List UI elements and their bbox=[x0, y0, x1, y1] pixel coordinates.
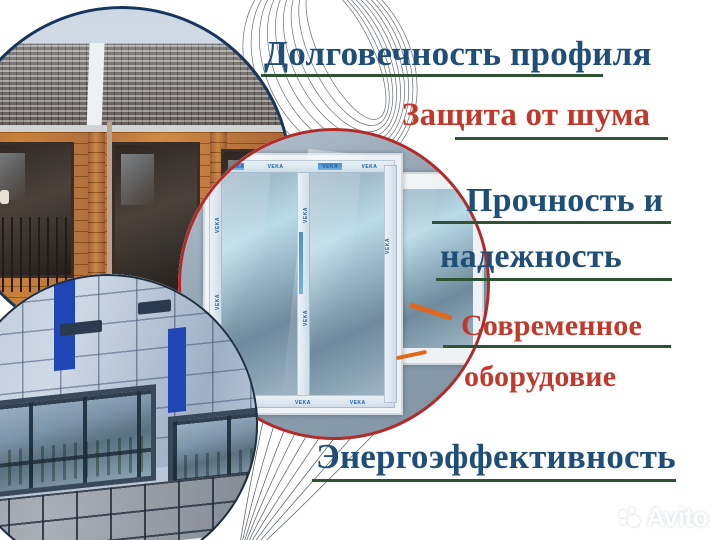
veka-label: VEKA bbox=[350, 400, 366, 406]
headline-rule-3 bbox=[432, 221, 671, 224]
veka-label: VEKA bbox=[303, 207, 309, 223]
protective-film-right bbox=[384, 165, 397, 402]
headline-noise-protection: Защита от шума bbox=[402, 97, 650, 134]
building-facade-image bbox=[0, 274, 258, 540]
storefront-glazing-left bbox=[0, 384, 156, 500]
film-blue-stripe-3 bbox=[299, 232, 303, 294]
veka-label: VEKA bbox=[361, 164, 377, 170]
headline-strength: Прочность и bbox=[466, 182, 663, 220]
headline-energy-efficiency: Энергоэффективность bbox=[316, 437, 676, 477]
photo-circle-building-facade bbox=[0, 274, 258, 540]
glass-sash-right bbox=[309, 173, 387, 395]
headline-rule-7 bbox=[312, 479, 676, 482]
wall-lamp bbox=[0, 190, 9, 204]
veka-label: VEKA bbox=[268, 164, 284, 170]
avito-dots-icon bbox=[619, 507, 641, 527]
headline-rule-1 bbox=[261, 74, 603, 77]
veka-label: VEKA bbox=[385, 238, 391, 254]
poster-canvas: VEKA VEKA VEKA VEKA VEKA VEKA VEKA VEKA … bbox=[0, 0, 720, 540]
veka-label: VEKA bbox=[228, 164, 244, 170]
roof-ridge bbox=[86, 43, 104, 131]
headline-reliability: надежность bbox=[440, 238, 622, 276]
headline-durability: Долговечность профиля bbox=[264, 34, 652, 74]
headline-equipment: оборудовие bbox=[464, 360, 616, 394]
avito-watermark: Avito bbox=[619, 504, 708, 530]
headline-rule-2 bbox=[455, 137, 668, 140]
blue-accent-panel-3 bbox=[168, 327, 186, 413]
headline-modern: Современное bbox=[461, 309, 642, 343]
headline-rule-5 bbox=[443, 345, 671, 348]
veka-label: VEKA bbox=[303, 310, 309, 326]
veka-label: VEKA bbox=[295, 400, 311, 406]
avito-wordmark: Avito bbox=[646, 504, 708, 530]
veka-label: VEKA bbox=[215, 217, 221, 233]
headline-rule-4 bbox=[436, 278, 672, 281]
veka-label: VEKA bbox=[322, 164, 338, 170]
